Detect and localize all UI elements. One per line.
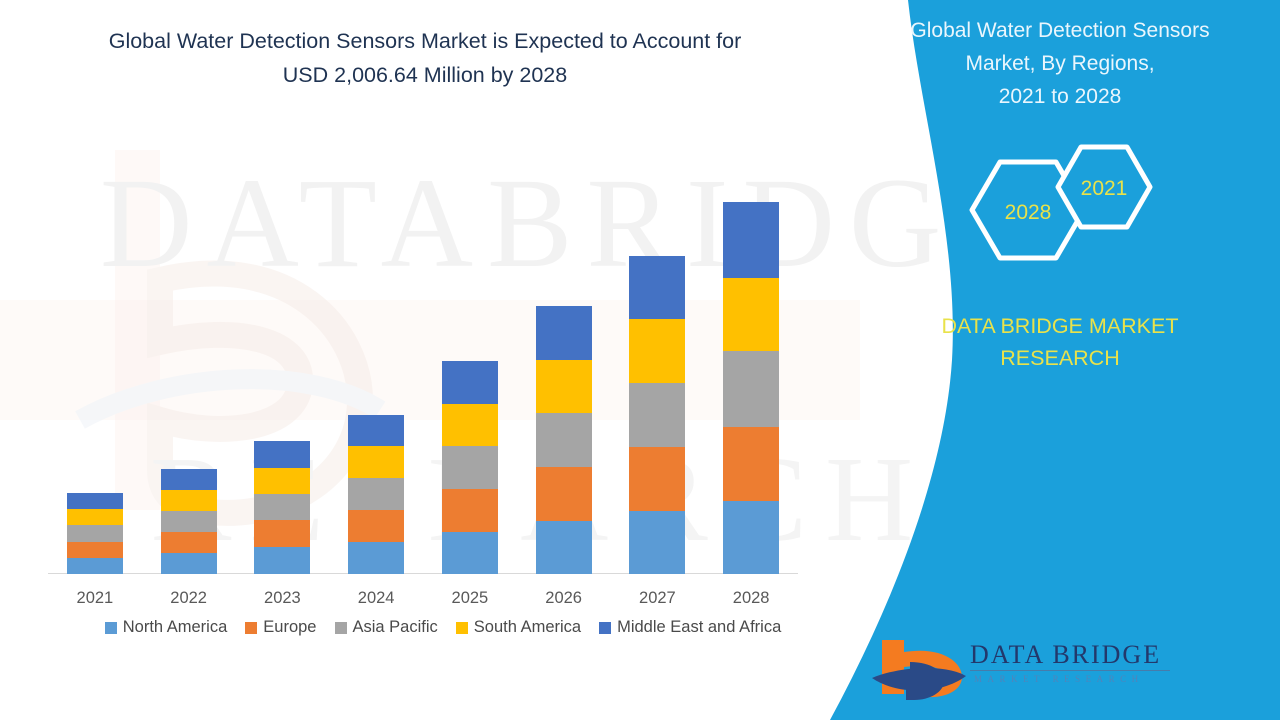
logo-b-icon xyxy=(870,632,966,702)
legend-item[interactable]: Middle East and Africa xyxy=(599,618,781,637)
x-axis-label: 2025 xyxy=(435,589,505,608)
chart-title-line2: USD 2,006.64 Million by 2028 xyxy=(283,63,567,87)
x-axis-label: 2028 xyxy=(716,589,786,608)
legend-label: Middle East and Africa xyxy=(617,618,781,637)
company-logo: DATA BRIDGE MARKET RESEARCH xyxy=(870,632,1200,704)
bar-segment xyxy=(723,278,779,351)
legend-label: Europe xyxy=(263,618,316,637)
bar-segment xyxy=(629,511,685,574)
bar-segment xyxy=(536,360,592,413)
bar-segment xyxy=(629,447,685,511)
legend-swatch-icon xyxy=(245,622,257,634)
bar-segment xyxy=(67,542,123,558)
bar-segment xyxy=(442,446,498,489)
stacked-bar xyxy=(536,306,592,574)
panel-title-line3: 2021 to 2028 xyxy=(999,85,1122,108)
legend-swatch-icon xyxy=(599,622,611,634)
stacked-bar xyxy=(254,441,310,574)
bar-segment xyxy=(442,532,498,574)
bar-segment xyxy=(536,306,592,360)
bar-segment xyxy=(442,489,498,532)
panel-title: Global Water Detection Sensors Market, B… xyxy=(860,14,1260,113)
hexagon-2028-label: 2028 xyxy=(1005,201,1052,224)
chart-title: Global Water Detection Sensors Market is… xyxy=(30,24,820,92)
hexagon-2021-label: 2021 xyxy=(1081,177,1128,200)
bar-segment xyxy=(348,478,404,510)
logo-tagline: MARKET RESEARCH xyxy=(974,674,1144,684)
bar-segment xyxy=(254,520,310,547)
bar-segment xyxy=(161,532,217,553)
bar-segment xyxy=(161,511,217,532)
stacked-bar xyxy=(442,361,498,574)
legend-label: North America xyxy=(123,618,228,637)
legend-item[interactable]: Europe xyxy=(245,618,316,637)
stacked-bar-plot xyxy=(48,150,798,574)
bar-segment xyxy=(348,510,404,542)
x-axis-label: 2024 xyxy=(341,589,411,608)
x-axis-labels: 20212022202320242025202620272028 xyxy=(48,589,798,615)
bar-segment xyxy=(629,383,685,447)
bar-segment xyxy=(67,558,123,574)
bar-segment xyxy=(67,525,123,542)
legend-item[interactable]: North America xyxy=(105,618,228,637)
bar-segment xyxy=(536,413,592,467)
bar-segment xyxy=(629,256,685,319)
legend-swatch-icon xyxy=(105,622,117,634)
bar-segment xyxy=(629,319,685,383)
brand-name: DATA BRIDGE MARKET RESEARCH xyxy=(860,310,1260,374)
stacked-bar xyxy=(348,415,404,574)
bar-segment xyxy=(254,494,310,520)
bar-segment xyxy=(161,490,217,511)
bar-segment xyxy=(254,547,310,574)
bar-segment xyxy=(348,542,404,574)
legend-label: South America xyxy=(474,618,581,637)
hexagon-badges: 2028 2021 xyxy=(950,140,1170,280)
bar-segment xyxy=(67,493,123,509)
legend-item[interactable]: South America xyxy=(456,618,581,637)
logo-wordmark: DATA BRIDGE xyxy=(970,640,1161,670)
right-brand-panel: Global Water Detection Sensors Market, B… xyxy=(800,0,1280,720)
legend-item[interactable]: Asia Pacific xyxy=(335,618,438,637)
bar-segment xyxy=(723,351,779,427)
stacked-bar xyxy=(723,202,779,574)
bar-segment xyxy=(723,202,779,278)
x-axis-label: 2021 xyxy=(60,589,130,608)
bar-segment xyxy=(348,415,404,446)
x-axis-label: 2023 xyxy=(247,589,317,608)
legend-swatch-icon xyxy=(335,622,347,634)
bar-segment xyxy=(254,441,310,468)
x-axis-label: 2026 xyxy=(529,589,599,608)
x-axis-label: 2027 xyxy=(622,589,692,608)
bar-segment xyxy=(161,553,217,574)
panel-title-line1: Global Water Detection Sensors xyxy=(910,19,1209,42)
panel-title-line2: Market, By Regions, xyxy=(965,52,1154,75)
bar-segment xyxy=(348,446,404,478)
logo-divider xyxy=(970,670,1170,671)
bar-segment xyxy=(254,468,310,494)
bar-segment xyxy=(536,467,592,521)
bar-segment xyxy=(442,361,498,404)
bar-segment xyxy=(67,509,123,525)
brand-name-line2: RESEARCH xyxy=(1000,346,1119,370)
chart-legend: North AmericaEuropeAsia PacificSouth Ame… xyxy=(48,618,838,637)
bar-segment xyxy=(723,427,779,501)
bar-segment xyxy=(442,404,498,446)
x-axis-label: 2022 xyxy=(154,589,224,608)
stacked-bar xyxy=(67,493,123,574)
bar-segment xyxy=(723,501,779,574)
legend-swatch-icon xyxy=(456,622,468,634)
bar-segment xyxy=(536,521,592,574)
stacked-bar xyxy=(629,256,685,574)
infographic-canvas: DATABRIDGE RESEARCH Global Water Detecti… xyxy=(0,0,1280,720)
bar-segment xyxy=(161,469,217,490)
brand-name-line1: DATA BRIDGE MARKET xyxy=(942,314,1179,338)
chart-title-line1: Global Water Detection Sensors Market is… xyxy=(109,29,742,53)
legend-label: Asia Pacific xyxy=(353,618,438,637)
stacked-bar xyxy=(161,469,217,574)
